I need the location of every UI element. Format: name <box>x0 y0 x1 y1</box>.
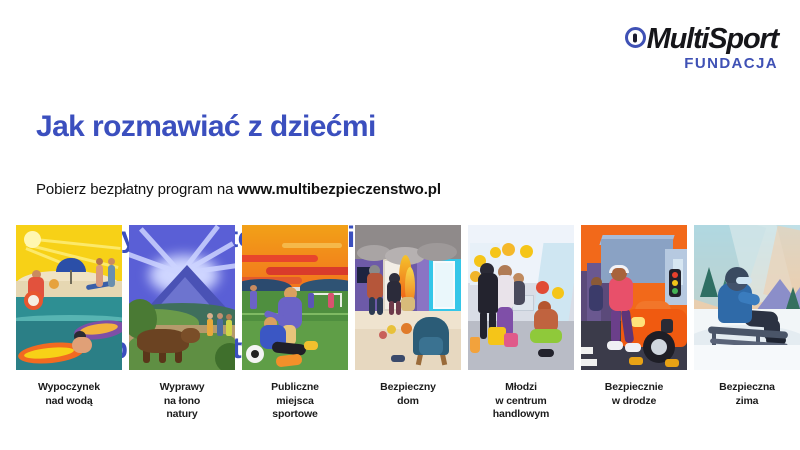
poster: Jak rozmawiać z dziećmi i młodymi nastol… <box>0 0 800 450</box>
caption-line: handlowym <box>468 408 574 422</box>
topic-card-sports[interactable]: Publiczne miejsca sportowe <box>242 225 348 422</box>
caption-line: Publiczne <box>242 381 348 395</box>
thumbnail-shopping-mall[interactable] <box>468 225 574 370</box>
headline-line-1: Jak rozmawiać z dziećmi <box>36 108 376 145</box>
thumbnail-winter-safety[interactable] <box>694 225 800 370</box>
logo-wordmark: MultiSport <box>647 26 778 52</box>
topic-card-mall[interactable]: Młodzi w centrum handlowym <box>468 225 574 422</box>
caption-mall: Młodzi w centrum handlowym <box>468 381 574 422</box>
caption-line: Młodzi <box>468 381 574 395</box>
caption-line: w centrum <box>468 395 574 409</box>
caption-line: zima <box>694 395 800 409</box>
program-website-link[interactable]: www.multibezpieczenstwo.pl <box>237 181 441 198</box>
caption-nature: Wyprawy na łono natury <box>129 381 235 422</box>
subtitle-prefix: Pobierz bezpłatny program na <box>36 181 237 198</box>
thumbnail-public-sports[interactable] <box>242 225 348 370</box>
caption-home: Bezpieczny dom <box>355 381 461 408</box>
topic-card-road[interactable]: Bezpiecznie w drodze <box>581 225 687 422</box>
caption-sports: Publiczne miejsca sportowe <box>242 381 348 422</box>
caption-line: w drodze <box>581 395 687 409</box>
thumbnail-road-safety[interactable] <box>581 225 687 370</box>
multisport-circle-icon <box>625 27 646 48</box>
caption-line: nad wodą <box>16 395 122 409</box>
caption-water: Wypoczynek nad wodą <box>16 381 122 408</box>
topic-card-nature[interactable]: Wyprawy na łono natury <box>129 225 235 422</box>
topic-card-winter[interactable]: Bezpieczna zima <box>694 225 800 422</box>
topic-card-water[interactable]: Wypoczynek nad wodą <box>16 225 122 422</box>
caption-line: na łono <box>129 395 235 409</box>
caption-road: Bezpiecznie w drodze <box>581 381 687 408</box>
caption-line: Bezpieczny <box>355 381 461 395</box>
thumbnail-water-recreation[interactable] <box>16 225 122 370</box>
logo-row: MultiSport <box>625 26 778 52</box>
caption-line: Wyprawy <box>129 381 235 395</box>
topic-card-home[interactable]: Bezpieczny dom <box>355 225 461 422</box>
caption-line: miejsca <box>242 395 348 409</box>
logo-subtitle: FUNDACJA <box>625 56 778 71</box>
topic-card-row: Wypoczynek nad wodą <box>16 225 784 422</box>
caption-winter: Bezpieczna zima <box>694 381 800 408</box>
caption-line: Bezpiecznie <box>581 381 687 395</box>
caption-line: dom <box>355 395 461 409</box>
subtitle: Pobierz bezpłatny program na www.multibe… <box>36 181 441 198</box>
thumbnail-nature-trip[interactable] <box>129 225 235 370</box>
thumbnail-safe-home[interactable] <box>355 225 461 370</box>
caption-line: sportowe <box>242 408 348 422</box>
caption-line: Bezpieczna <box>694 381 800 395</box>
caption-line: Wypoczynek <box>16 381 122 395</box>
caption-line: natury <box>129 408 235 422</box>
multisport-fundacja-logo[interactable]: MultiSport FUNDACJA <box>625 26 778 71</box>
